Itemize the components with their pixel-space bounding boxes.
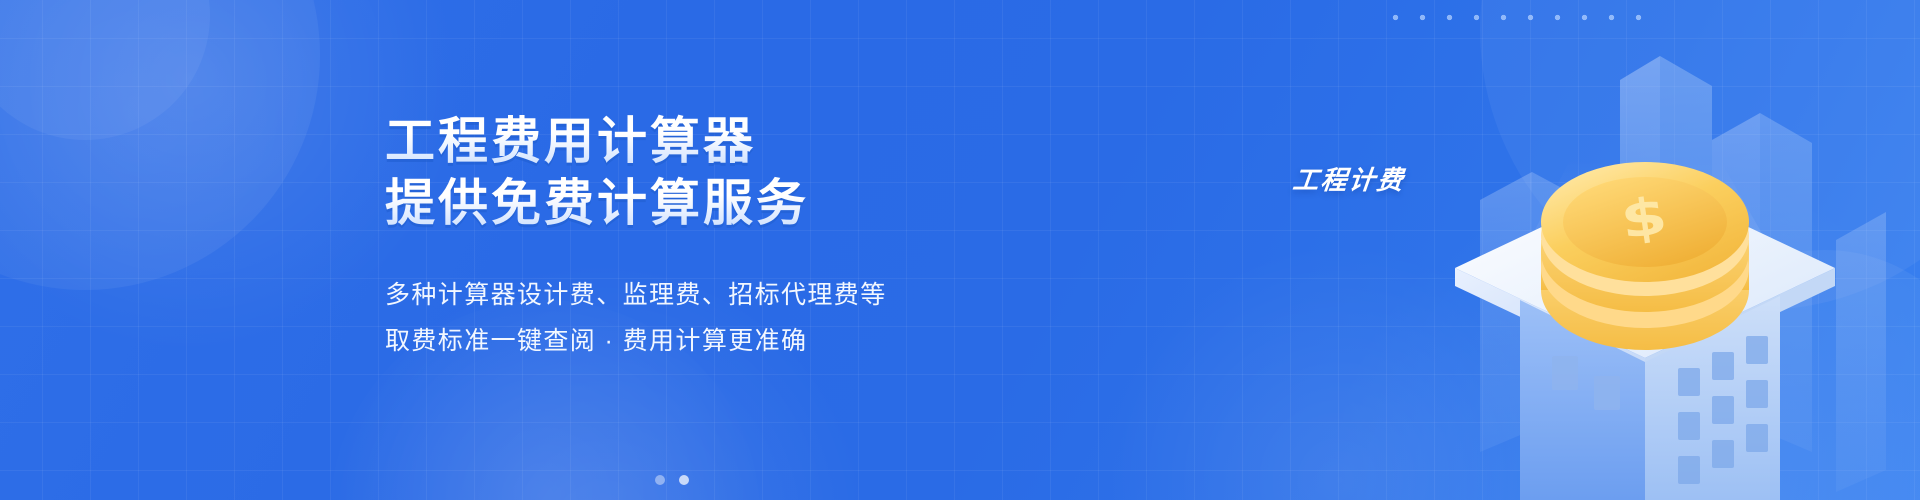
headline-line-1: 工程费用计算器 [385,110,1145,172]
illustration-badge-label: 工程计费 [1291,160,1407,197]
subtitle-line-2: 取费标准一键查阅 · 费用计算更准确 [385,320,1145,362]
carousel-dot-1[interactable] [655,475,665,485]
headline-line-2: 提供免费计算服务 [385,172,1145,234]
carousel-indicators[interactable] [655,475,689,485]
carousel-dot-2[interactable] [679,475,689,485]
svg-text:$: $ [1617,185,1671,251]
subtitle-line-1: 多种计算器设计费、监理费、招标代理费等 [385,274,1145,316]
hero-banner: $ 工程计费 工程费用计算器 提供免费计算服务 多种计算器设计费、监理费、招标代… [0,0,1920,500]
hero-copy: 工程费用计算器 提供免费计算服务 多种计算器设计费、监理费、招标代理费等 取费标… [385,110,1145,362]
hero-illustration: $ [1100,0,1920,500]
hero-subtitle: 多种计算器设计费、监理费、招标代理费等 取费标准一键查阅 · 费用计算更准确 [385,274,1145,362]
